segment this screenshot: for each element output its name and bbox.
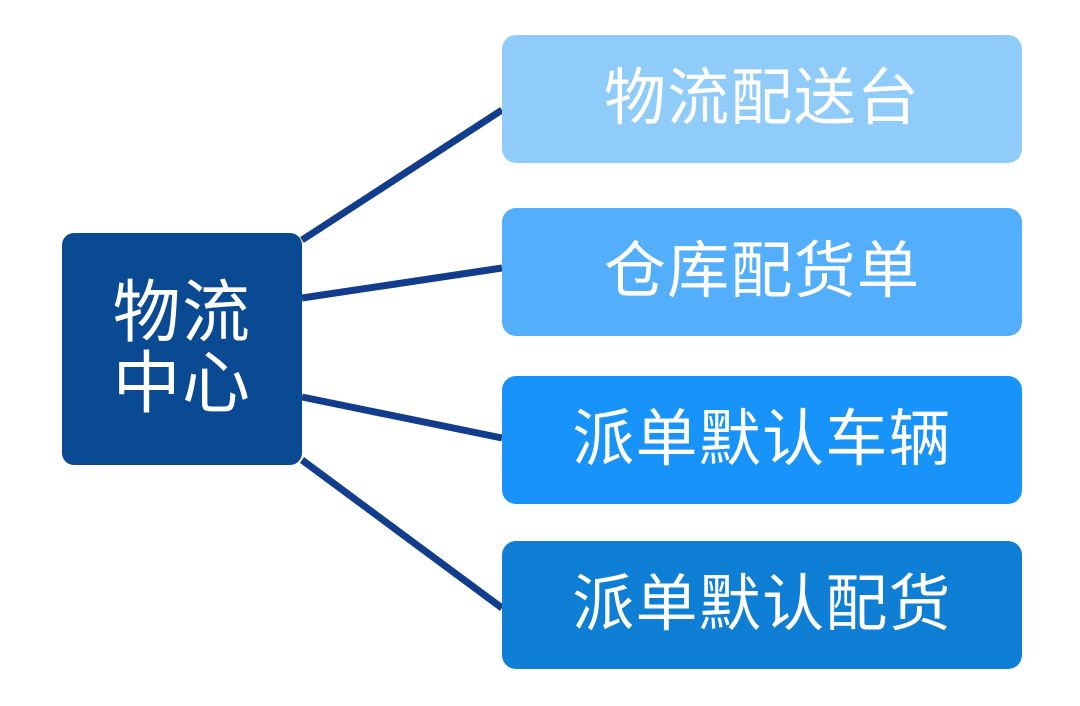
child-node-logistics-delivery-desk[interactable]: 物流配送台 [502, 35, 1022, 163]
root-node-label: 物流 中心 [62, 278, 302, 421]
child-node-warehouse-distribution-order[interactable]: 仓库配货单 [502, 208, 1022, 336]
connector-line-1 [302, 268, 502, 298]
child-node-dispatch-default-distribution[interactable]: 派单默认配货 [502, 541, 1022, 669]
connector-line-3 [302, 460, 502, 608]
child-node-label-2: 派单默认车辆 [502, 405, 1022, 474]
diagram-canvas: 物流 中心 物流配送台 仓库配货单 派单默认车辆 派单默认配货 [0, 0, 1080, 706]
connector-line-0 [302, 110, 502, 240]
connector-line-2 [302, 397, 502, 438]
root-node-logistics-center[interactable]: 物流 中心 [62, 233, 302, 465]
child-node-label-3: 派单默认配货 [502, 570, 1022, 639]
child-node-dispatch-default-vehicle[interactable]: 派单默认车辆 [502, 376, 1022, 504]
child-node-label-0: 物流配送台 [502, 64, 1022, 133]
child-node-label-1: 仓库配货单 [502, 237, 1022, 306]
